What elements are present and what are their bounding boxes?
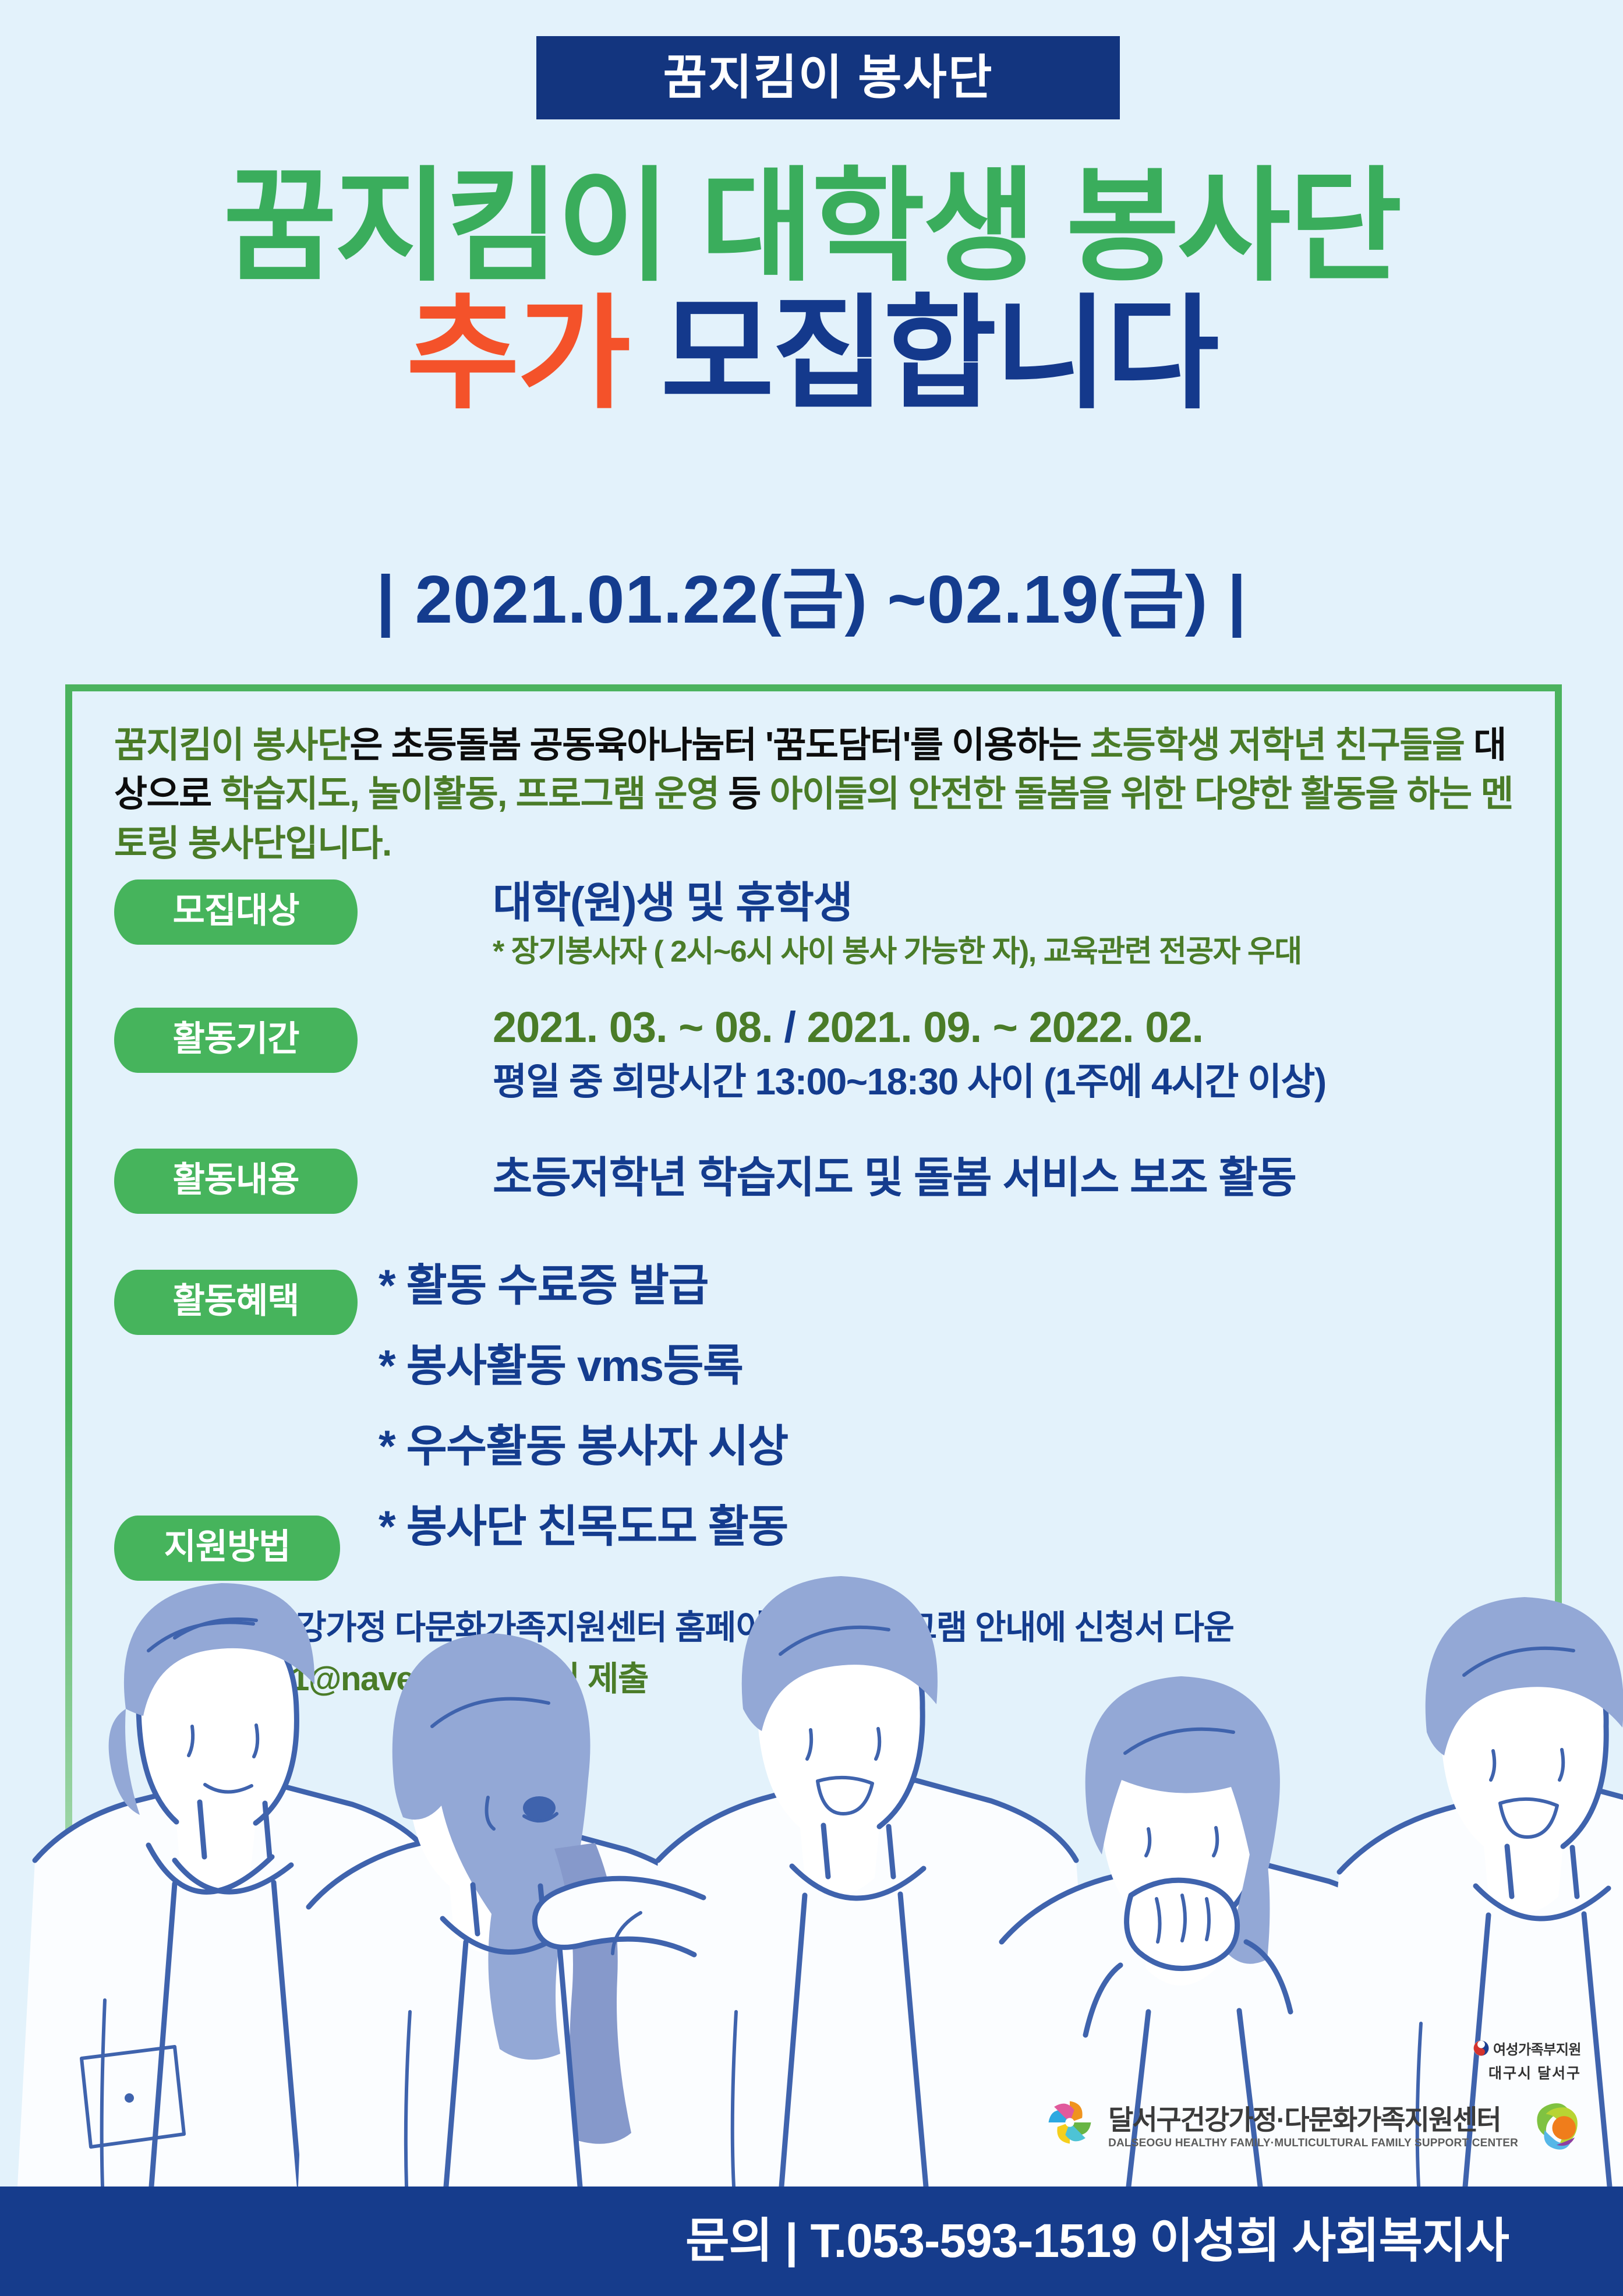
header-banner-label: 꿈지킴이 봉사단 xyxy=(663,54,993,102)
header-banner: 꿈지킴이 봉사단 xyxy=(536,36,1120,119)
section-period-hours: 평일 중 희망시간 13:00~18:30 사이 (1주에 4시간 이상) xyxy=(493,1059,1326,1104)
intro-seg-5: 학습지도, 놀이활동, 프로그램 운영 xyxy=(220,774,728,814)
center-logo: 달서구건강가정·다문화가족지원센터 DALSEOGU HEALTHY FAMIL… xyxy=(1042,2094,1582,2150)
benefit-item: * 봉사단 친목도모 활동 xyxy=(379,1505,788,1549)
gov-mark-row: 여성가족부지원 xyxy=(1473,2038,1581,2058)
apply-email-text[interactable]: (5931511@naver.com) 메일 제출 xyxy=(175,1660,648,1698)
benefit-item: * 우수활동 봉사자 시상 xyxy=(379,1425,788,1469)
intro-paragraph: 꿈지킴이 봉사단은 초등돌봄 공동육아나눔터 '꿈도담터'를 이용하는 초등학생… xyxy=(114,721,1523,868)
title-navy-word: 모집합니다 xyxy=(660,285,1217,423)
apply-step-2-number: 2. xyxy=(140,1660,175,1698)
section-target: 모집대상 대학(원)생 및 휴학생 * 장기봉사자 ( 2시~6시 사이 봉사 … xyxy=(114,879,358,945)
benefit-item: * 봉사활동 vms등록 xyxy=(379,1344,788,1389)
section-content-body: 초등저학년 학습지도 및 돌봄 서비스 보조 활동 xyxy=(493,1152,1296,1203)
taegeuk-icon xyxy=(1473,2040,1489,2056)
center-name-en: DALSEOGU HEALTHY FAMILY·MULTICULTURAL FA… xyxy=(1108,2137,1518,2150)
benefit-item: * 활동 수료증 발급 xyxy=(379,1264,788,1308)
government-support-mark: 여성가족부지원 대구시 달서구 xyxy=(1473,2038,1581,2083)
center-logo-text: 달서구건강가정·다문화가족지원센터 DALSEOGU HEALTHY FAMIL… xyxy=(1108,2106,1518,2150)
poster-root: 꿈지킴이 봉사단 꿈지킴이 대학생 봉사단 추가 모집합니다 | 2021.01… xyxy=(0,0,1623,2296)
section-benefits-list: * 활동 수료증 발급 * 봉사활동 vms등록 * 우수활동 봉사자 시상 *… xyxy=(379,1264,788,1549)
section-target-main: 대학(원)생 및 휴학생 xyxy=(493,877,1302,928)
pinwheel-logo-icon xyxy=(1042,2094,1098,2150)
title-block: 꿈지킴이 대학생 봉사단 추가 모집합니다 xyxy=(0,157,1623,423)
title-accent-word: 추가 xyxy=(406,285,628,423)
section-target-body: 대학(원)생 및 휴학생 * 장기봉사자 ( 2시~6시 사이 봉사 가능한 자… xyxy=(493,877,1302,970)
section-target-note: * 장기봉사자 ( 2시~6시 사이 봉사 가능한 자), 교육관련 전공자 우… xyxy=(493,934,1302,970)
section-period: 활동기간 2021. 03. ~ 08. / 2021. 09. ~ 2022.… xyxy=(114,1008,358,1073)
intro-seg-1: 꿈지킴이 봉사단 xyxy=(114,725,350,765)
intro-seg-6: 등 xyxy=(728,774,769,814)
title-line-2: 추가 모집합니다 xyxy=(0,285,1623,423)
section-benefits-pill: 활동혜택 xyxy=(114,1270,358,1335)
section-content-main: 초등저학년 학습지도 및 돌봄 서비스 보조 활동 xyxy=(493,1152,1296,1203)
period-divider: / xyxy=(784,1003,795,1051)
intro-seg-3: 초등학생 저학년 친구들을 xyxy=(1090,725,1464,765)
footer-bar: 문의 | T.053-593-1519 이성희 사회복지사 xyxy=(0,2187,1623,2296)
section-target-pill: 모집대상 xyxy=(114,879,358,945)
period-range-a: 2021. 03. ~ 08. xyxy=(493,1003,773,1051)
apply-step-2: 2. (5931511@naver.com) 메일 제출 xyxy=(140,1658,1526,1701)
section-apply-steps: 1. 달서구건강가정 다문화가족지원센터 홈페이지 → 프로그램 안내에 신청서… xyxy=(140,1606,1526,1701)
footer-contact-text: 문의 | T.053-593-1519 이성희 사회복지사 xyxy=(685,2217,1509,2265)
section-apply: 지원방법 xyxy=(114,1516,340,1581)
section-benefits: 활동혜택 xyxy=(114,1270,358,1335)
recruitment-date-line: | 2021.01.22(금) ~02.19(금) | xyxy=(0,545,1623,642)
title-line-1: 꿈지킴이 대학생 봉사단 xyxy=(0,157,1623,295)
gov-support-label: 여성가족부지원 xyxy=(1493,2038,1581,2058)
section-content-pill: 활동내용 xyxy=(114,1149,358,1214)
section-content: 활동내용 초등저학년 학습지도 및 돌봄 서비스 보조 활동 xyxy=(114,1149,358,1214)
apply-step-1: 1. 달서구건강가정 다문화가족지원센터 홈페이지 → 프로그램 안내에 신청서… xyxy=(140,1606,1526,1649)
center-name-ko: 달서구건강가정·다문화가족지원센터 xyxy=(1108,2106,1501,2134)
family-swirl-icon xyxy=(1529,2097,1582,2150)
section-period-pill: 활동기간 xyxy=(114,1008,358,1073)
section-period-body: 2021. 03. ~ 08. / 2021. 09. ~ 2022. 02. … xyxy=(493,1002,1326,1104)
section-apply-pill: 지원방법 xyxy=(114,1516,340,1581)
section-period-dates: 2021. 03. ~ 08. / 2021. 09. ~ 2022. 02. xyxy=(493,1002,1326,1052)
intro-seg-2: 은 초등돌봄 공동육아나눔터 '꿈도담터'를 이용하는 xyxy=(350,725,1090,765)
student-figure-2 xyxy=(298,1633,729,2187)
gov-region-label: 대구시 달서구 xyxy=(1488,2062,1581,2083)
period-range-b: 2021. 09. ~ 2022. 02. xyxy=(807,1003,1204,1051)
